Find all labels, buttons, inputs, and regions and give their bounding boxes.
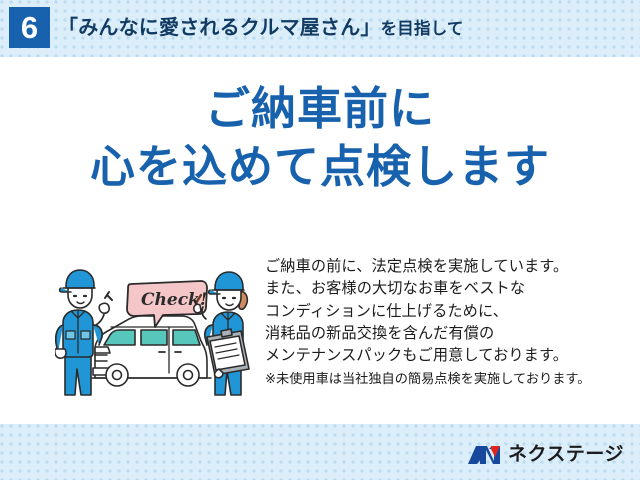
brand-name: ネクステージ bbox=[508, 440, 624, 470]
clipboard-icon bbox=[207, 329, 249, 375]
body-line: コンディションに仕上げるために、 bbox=[265, 301, 635, 323]
headline-line-2: 心を込めて点検します bbox=[0, 138, 640, 196]
nexstage-n-mark bbox=[467, 443, 501, 467]
brand-logo: ネクステージ bbox=[467, 440, 624, 470]
header-title: 「みんなに愛されるクルマ屋さん」を目指して bbox=[58, 12, 464, 44]
body-line: また、お客様の大切なお車をベストな bbox=[265, 278, 635, 300]
header-title-main: 「みんなに愛されるクルマ屋さん」 bbox=[58, 17, 381, 39]
body-line: メンテナンスパックもご用意しております。 bbox=[265, 345, 635, 367]
content-area: ご納車前に 心を込めて点検します ご納車の前に、法定点検を実施しています。 また… bbox=[0, 57, 640, 424]
body-line: 消耗品の新品交換を含んだ有償の bbox=[265, 323, 635, 345]
step-number-badge: 6 bbox=[9, 7, 50, 48]
promo-panel: 6 「みんなに愛されるクルマ屋さん」を目指して ご納車前に 心を込めて点検します… bbox=[0, 0, 640, 480]
check-bubble-text: Check! bbox=[141, 290, 207, 310]
page-title: ご納車前に 心を込めて点検します bbox=[0, 80, 640, 196]
header-title-tail: を目指して bbox=[381, 20, 464, 38]
body-line: ご納車の前に、法定点検を実施しています。 bbox=[265, 256, 635, 278]
van-icon bbox=[91, 316, 211, 386]
headline-line-1: ご納車前に bbox=[0, 80, 640, 138]
body-footnote: ※未使用車は当社独自の簡易点検を実施しております。 bbox=[265, 368, 635, 389]
header: 6 「みんなに愛されるクルマ屋さん」を目指して bbox=[0, 0, 640, 57]
mechanics-illustration: Check! bbox=[55, 265, 260, 400]
body-copy: ご納車の前に、法定点検を実施しています。 また、お客様の大切なお車をベストな コ… bbox=[265, 256, 635, 389]
